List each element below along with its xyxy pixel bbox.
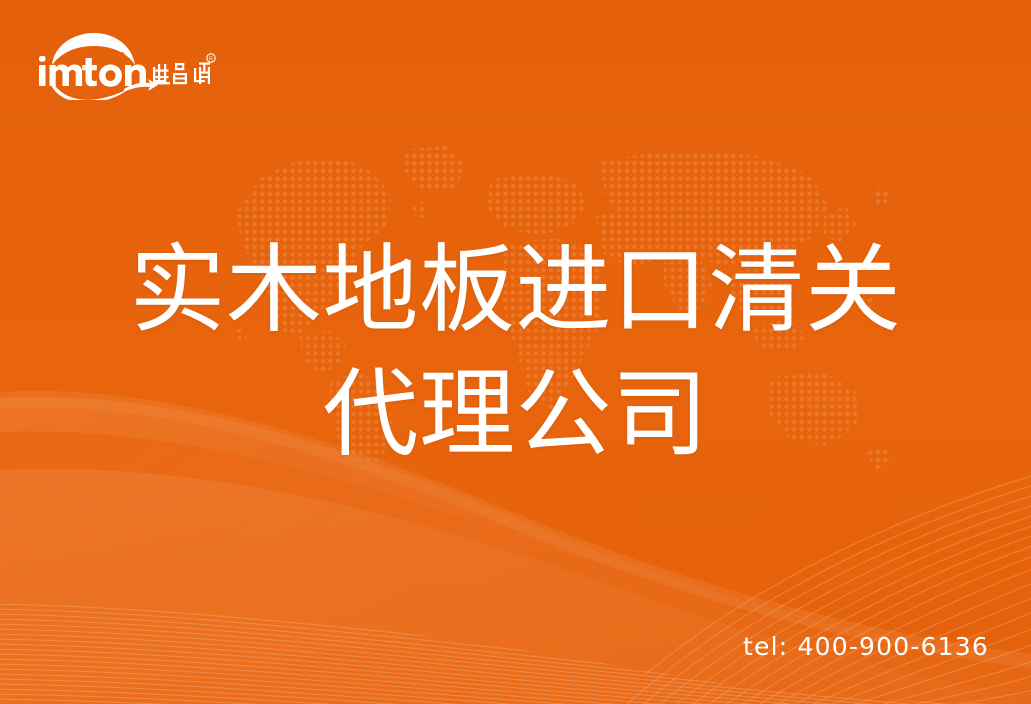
brand-logo[interactable]: R <box>36 28 216 100</box>
globe-arc-icon <box>52 33 135 65</box>
wordmark-chinese <box>150 63 210 85</box>
svg-text:R: R <box>209 56 213 62</box>
banner-content: R 实木地板进口清关 代理公司 tel: 400-900-6136 <box>0 0 1031 704</box>
registered-mark-icon: R <box>207 54 215 63</box>
promotional-banner: R 实木地板进口清关 代理公司 tel: 400-900-6136 <box>0 0 1031 704</box>
page-title: 实木地板进口清关 代理公司 <box>0 228 1031 476</box>
contact-phone[interactable]: tel: 400-900-6136 <box>743 632 989 662</box>
headline-line-1: 实木地板进口清关 <box>0 228 1031 352</box>
headline-line-2: 代理公司 <box>0 352 1031 476</box>
